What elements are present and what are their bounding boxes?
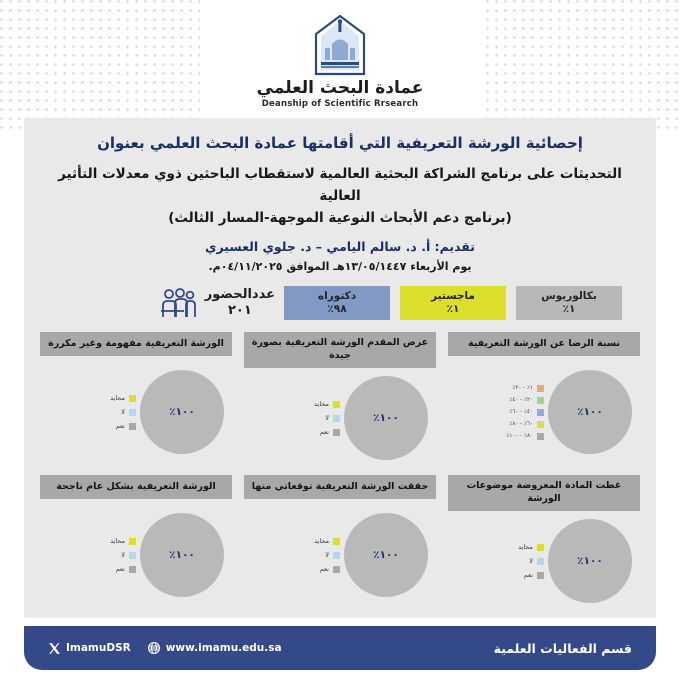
chart-title: الورشة التعريفية بشكل عام ناجحة <box>40 475 232 499</box>
workshop-title-line2: (برنامج دعم الأبحاث النوعية الموجهة-المس… <box>40 207 640 230</box>
legend-item: نعم <box>518 571 544 579</box>
legend-item: محايد <box>314 537 340 545</box>
pie-chart: ١٠٠٪ <box>344 513 428 597</box>
degree-value: ١٪ <box>447 303 460 316</box>
degree-badge-phd: دكتوراه ٩٨٪ <box>284 286 390 320</box>
degree-value: ١٪ <box>563 303 576 316</box>
legend-label: محايد <box>110 394 125 402</box>
legend-label: نعم <box>116 422 125 430</box>
legend-label: محايد <box>518 543 533 551</box>
attendance-count: ٢٠١ <box>205 303 275 319</box>
legend-label: ١٪ - ٢٠٪ <box>512 385 533 391</box>
footer-bar: قسم الفعاليات العلمية ImamuDSR www.imamu… <box>24 626 656 670</box>
degree-name: ماجستير <box>431 290 475 303</box>
legend-item: نعم <box>314 565 340 573</box>
legend-swatch <box>129 566 136 573</box>
chart-legend: محايد لا نعم <box>314 537 340 573</box>
legend-item: لا <box>314 551 340 559</box>
org-name-english: Deanship of Scientific Rrsearch <box>262 99 418 109</box>
degree-badges: بكالوريوس ١٪ ماجستير ١٪ دكتوراه ٩٨٪ <box>284 286 622 320</box>
legend-swatch <box>537 385 544 392</box>
department-name: قسم الفعاليات العلمية <box>494 641 632 656</box>
legend-swatch <box>537 544 544 551</box>
legend-item: ٤٠٪ - ٦٠٪ <box>506 409 544 416</box>
legend-swatch <box>537 421 544 428</box>
chart-card-satisfaction: نسبة الرضا عن الورشة التعريفية ١٠٠٪ ١٪ -… <box>448 332 640 465</box>
website-url: www.imamu.edu.sa <box>166 642 282 654</box>
legend-label: محايد <box>314 400 329 408</box>
chart-title: عرض المقدم الورشة التعريفية بصورة جيدة <box>244 332 436 368</box>
legend-label: لا <box>529 557 533 565</box>
chart-legend: محايد لا نعم <box>110 537 136 573</box>
page-title: إحصائية الورشة التعريفية التي أقامتها عم… <box>40 132 640 155</box>
legend-label: نعم <box>524 571 533 579</box>
legend-swatch <box>333 552 340 559</box>
legend-swatch <box>333 538 340 545</box>
workshop-title-line1: التحديثات على برنامج الشراكة البحثية الع… <box>40 163 640 208</box>
pie-value-label: ١٠٠٪ <box>169 406 195 418</box>
pie-chart: ١٠٠٪ <box>140 370 224 454</box>
legend-label: محايد <box>314 537 329 545</box>
degree-name: بكالوريوس <box>541 290 597 303</box>
pie-chart: ١٠٠٪ <box>140 513 224 597</box>
legend-swatch <box>537 558 544 565</box>
chart-legend: محايد لا نعم <box>314 400 340 436</box>
attendance-label: عددالحضور <box>205 287 275 303</box>
legend-item: لا <box>518 557 544 565</box>
legend-label: ٤٠٪ - ٦٠٪ <box>509 409 533 415</box>
chart-title: حققت الورشة التعريفية توقعاتي منها <box>244 475 436 499</box>
pie-chart: ١٠٠٪ <box>548 370 632 454</box>
pie-value-label: ١٠٠٪ <box>577 555 603 567</box>
legend-swatch <box>537 397 544 404</box>
presenters-line: تقديم: أ. د. سالم اليامي – د. جلوي العسي… <box>40 239 640 254</box>
pie-chart: ١٠٠٪ <box>344 376 428 460</box>
legend-label: نعم <box>320 428 329 436</box>
legend-label: ٨٠٪ - ١٠٠٪ <box>506 433 533 439</box>
org-name-arabic: عمادة البحث العلمي <box>257 78 424 98</box>
chart-legend: ١٪ - ٢٠٪ ٢٠٪ - ٤٠٪ ٤٠٪ - ٦٠٪ ٦٠٪ - <box>506 385 544 440</box>
legend-swatch <box>333 415 340 422</box>
degree-badge-bachelor: بكالوريوس ١٪ <box>516 286 622 320</box>
chart-card-clarity: الورشة التعريفية مفهومة وغير مكررة ١٠٠٪ … <box>40 332 232 465</box>
legend-label: محايد <box>110 537 125 545</box>
legend-swatch <box>333 429 340 436</box>
pie-value-label: ١٠٠٪ <box>169 549 195 561</box>
chart-legend: محايد لا نعم <box>518 543 544 579</box>
chart-card-presentation-quality: عرض المقدم الورشة التعريفية بصورة جيدة ١… <box>244 332 436 465</box>
pie-value-label: ١٠٠٪ <box>373 549 399 561</box>
x-twitter-icon <box>48 642 61 655</box>
legend-swatch <box>129 552 136 559</box>
x-account-link[interactable]: ImamuDSR <box>48 642 131 655</box>
legend-item: لا <box>110 408 136 416</box>
legend-label: ٢٠٪ - ٤٠٪ <box>509 397 533 403</box>
chart-legend: محايد لا نعم <box>110 394 136 430</box>
pie-chart: ١٠٠٪ <box>548 519 632 603</box>
main-panel: إحصائية الورشة التعريفية التي أقامتها عم… <box>24 118 656 618</box>
legend-swatch <box>129 423 136 430</box>
legend-item: محايد <box>314 400 340 408</box>
legend-label: ٦٠٪ - ٨٠٪ <box>509 421 533 427</box>
mosque-emblem-icon <box>312 14 368 76</box>
chart-card-overall-success: الورشة التعريفية بشكل عام ناجحة ١٠٠٪ محا… <box>40 475 232 608</box>
legend-item: ٦٠٪ - ٨٠٪ <box>506 421 544 428</box>
website-link[interactable]: www.imamu.edu.sa <box>147 641 282 655</box>
legend-item: لا <box>314 414 340 422</box>
legend-label: نعم <box>116 565 125 573</box>
degree-name: دكتوراه <box>318 290 356 303</box>
legend-swatch <box>333 401 340 408</box>
footer-contacts: ImamuDSR www.imamu.edu.sa <box>48 641 282 655</box>
chart-card-expectations: حققت الورشة التعريفية توقعاتي منها ١٠٠٪ … <box>244 475 436 608</box>
legend-item: ٢٠٪ - ٤٠٪ <box>506 397 544 404</box>
legend-item: ٨٠٪ - ١٠٠٪ <box>506 433 544 440</box>
legend-item: محايد <box>110 394 136 402</box>
chart-title: الورشة التعريفية مفهومة وغير مكررة <box>40 332 232 356</box>
legend-item: نعم <box>314 428 340 436</box>
event-date: يوم الأربعاء ١٣/٠٥/١٤٤٧هـ الموافق ٠٤/١١/… <box>40 260 640 273</box>
infographic-page: عمادة البحث العلمي Deanship of Scientifi… <box>0 0 680 680</box>
legend-label: لا <box>121 408 125 416</box>
legend-item: محايد <box>518 543 544 551</box>
chart-card-content-coverage: غطت المادة المعروضة موضوعات الورشة ١٠٠٪ … <box>448 475 640 608</box>
degree-badge-master: ماجستير ١٪ <box>400 286 506 320</box>
legend-item: ١٪ - ٢٠٪ <box>506 385 544 392</box>
pie-value-label: ١٠٠٪ <box>577 406 603 418</box>
x-handle: ImamuDSR <box>66 642 131 654</box>
legend-swatch <box>537 433 544 440</box>
legend-swatch <box>129 395 136 402</box>
attendance-row: بكالوريوس ١٪ ماجستير ١٪ دكتوراه ٩٨٪ عددا… <box>40 286 640 320</box>
legend-item: نعم <box>110 422 136 430</box>
legend-label: نعم <box>320 565 329 573</box>
degree-value: ٩٨٪ <box>327 303 346 316</box>
legend-label: لا <box>325 414 329 422</box>
legend-item: محايد <box>110 537 136 545</box>
title-block: إحصائية الورشة التعريفية التي أقامتها عم… <box>40 132 640 273</box>
globe-icon <box>147 641 161 655</box>
pie-value-label: ١٠٠٪ <box>373 412 399 424</box>
legend-label: لا <box>121 551 125 559</box>
legend-swatch <box>129 409 136 416</box>
charts-grid: نسبة الرضا عن الورشة التعريفية ١٠٠٪ ١٪ -… <box>40 332 640 608</box>
legend-swatch <box>537 409 544 416</box>
legend-label: لا <box>325 551 329 559</box>
chart-title: نسبة الرضا عن الورشة التعريفية <box>448 332 640 356</box>
legend-swatch <box>129 538 136 545</box>
attendance-summary: عددالحضور ٢٠١ <box>158 287 275 320</box>
people-group-icon <box>158 287 198 319</box>
legend-swatch <box>333 566 340 573</box>
legend-item: نعم <box>110 565 136 573</box>
chart-title: غطت المادة المعروضة موضوعات الورشة <box>448 475 640 511</box>
legend-item: لا <box>110 551 136 559</box>
legend-swatch <box>537 572 544 579</box>
header: عمادة البحث العلمي Deanship of Scientifi… <box>0 0 680 118</box>
